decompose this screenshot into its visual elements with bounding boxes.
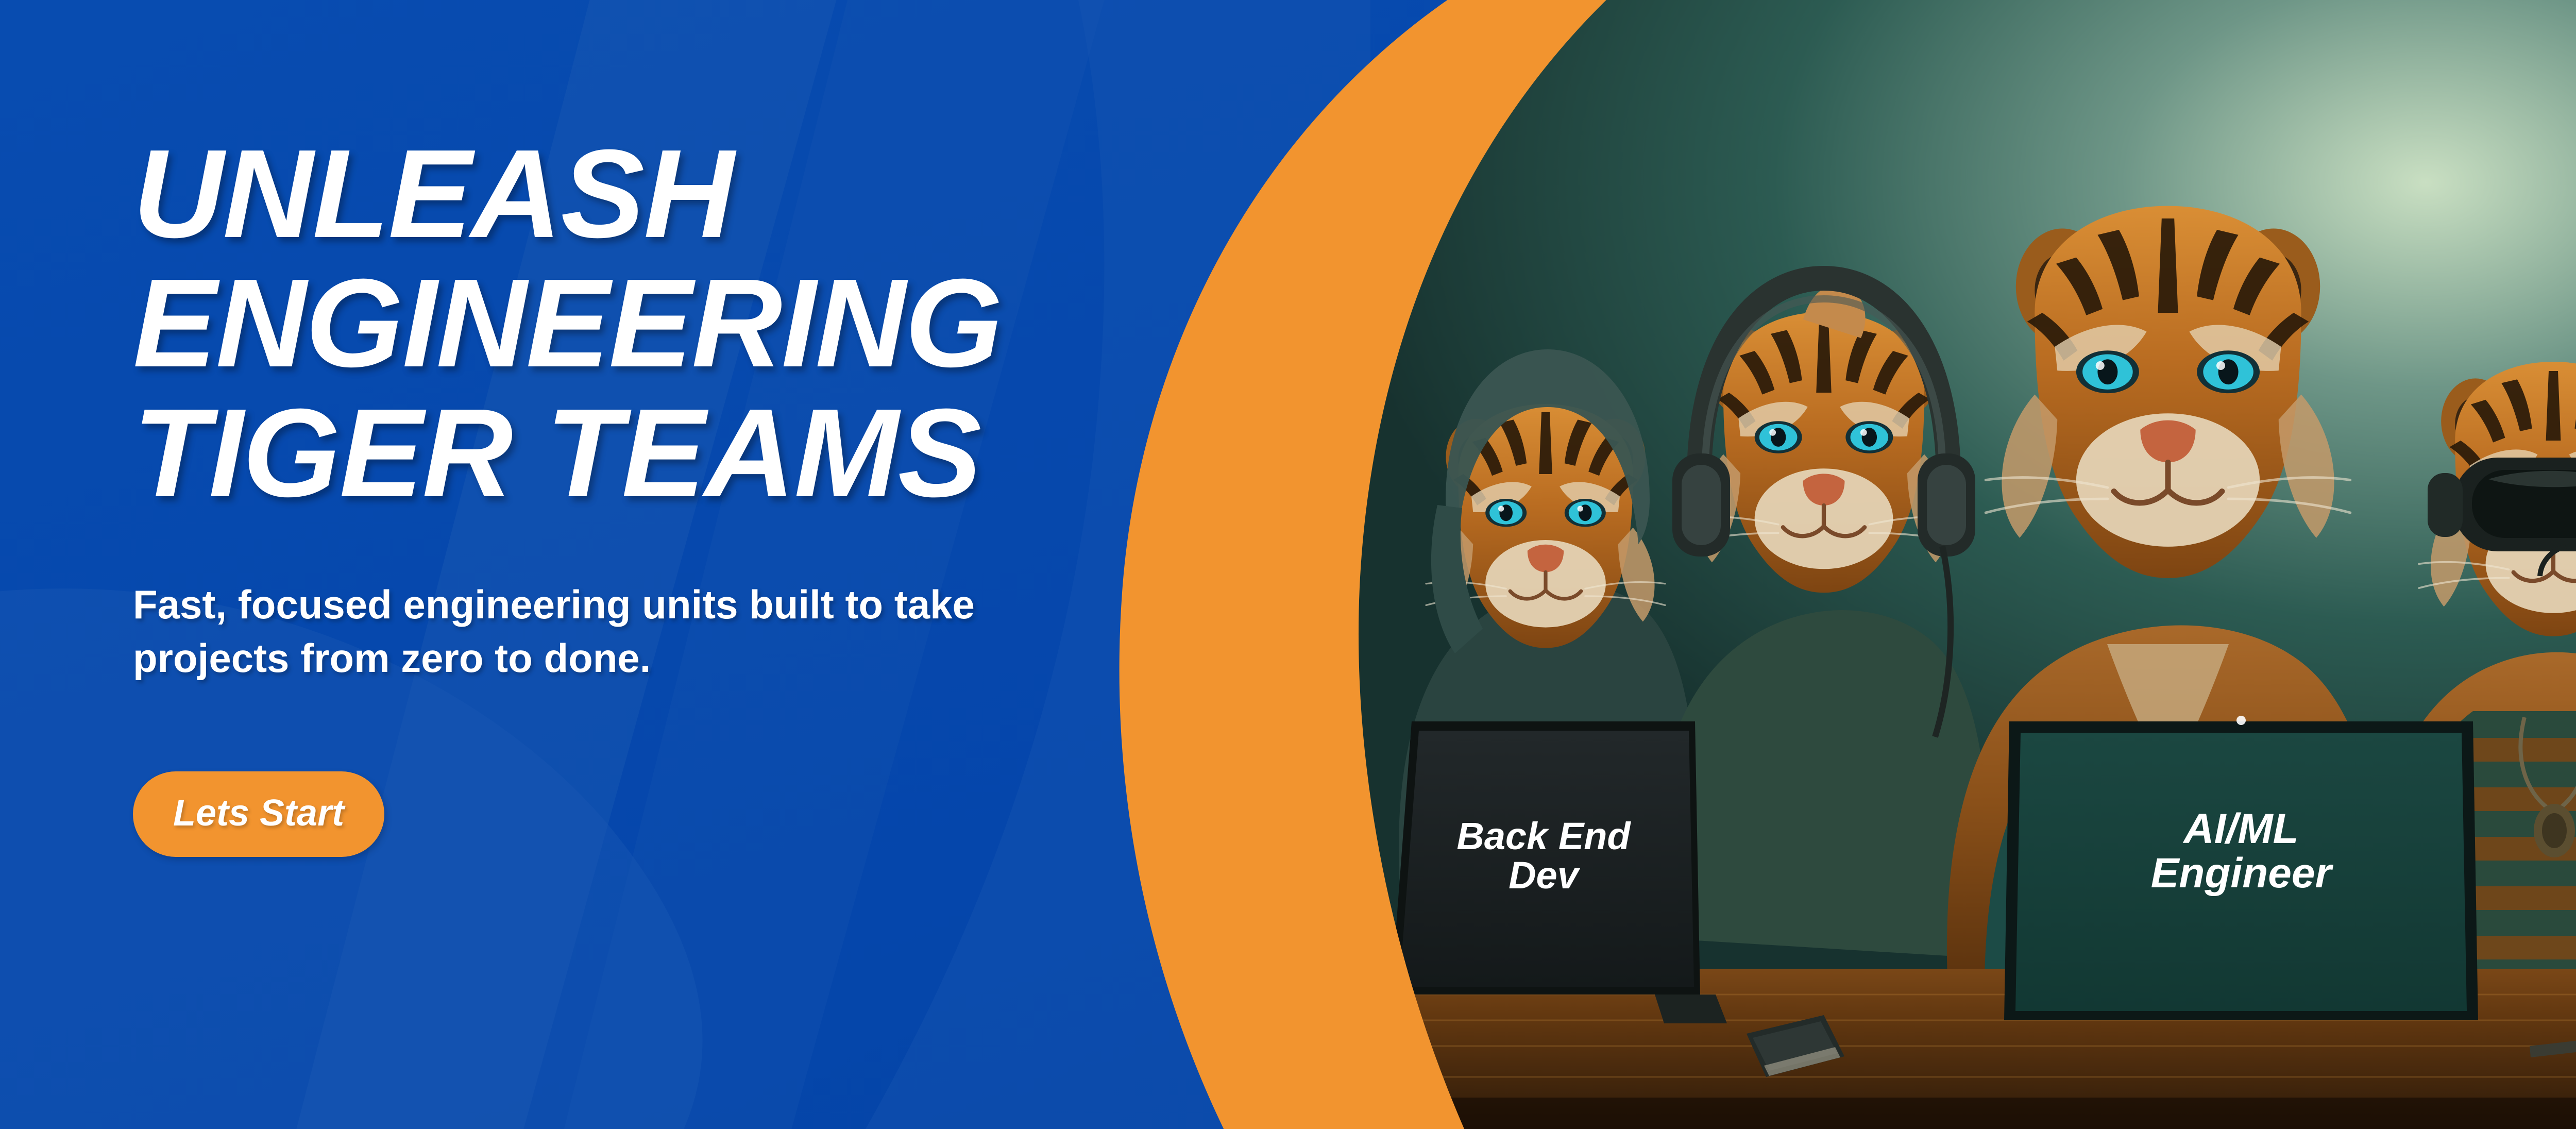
photo-region: Back End Dev AI/ML Engineer Full Stack (1340, 0, 2576, 1129)
hero-copy: UNLEASH ENGINEERING TIGER TEAMS Fast, fo… (133, 129, 1241, 857)
page-title: UNLEASH ENGINEERING TIGER TEAMS (133, 129, 1241, 517)
hero-banner: Back End Dev AI/ML Engineer Full Stack (0, 0, 2576, 1129)
lets-start-button[interactable]: Lets Start (133, 771, 384, 857)
hero-subheadline: Fast, focused engineering units built to… (133, 578, 1241, 685)
